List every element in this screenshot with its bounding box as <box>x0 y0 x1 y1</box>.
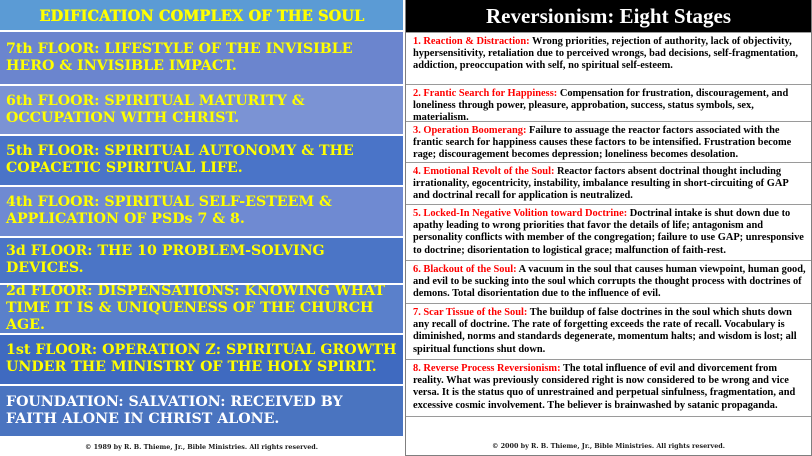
stage-title: 6. Blackout of the Soul: <box>413 264 517 275</box>
floor-row: 1st FLOOR: OPERATION Z: SPIRITUAL GROWTH… <box>0 333 403 384</box>
floor-row: 5th FLOOR: SPIRITUAL AUTONOMY & THE COPA… <box>0 134 403 185</box>
left-copyright-text: © 1989 by R. B. Thieme, Jr., Bible Minis… <box>85 443 318 451</box>
floor-label: 5th FLOOR: SPIRITUAL AUTONOMY & THE COPA… <box>6 143 397 177</box>
edification-complex-panel: EDIFICATION COMPLEX OF THE SOUL 7th FLOO… <box>0 0 403 456</box>
stages-list: 1. Reaction & Distraction: Wrong priorit… <box>406 32 811 436</box>
floor-label: 1st FLOOR: OPERATION Z: SPIRITUAL GROWTH… <box>6 342 397 376</box>
stage-row: 7. Scar Tissue of the Soul: The buildup … <box>406 304 811 360</box>
stage-row: 2. Frantic Search for Happiness: Compens… <box>406 85 811 122</box>
stage-title: 4. Emotional Revolt of the Soul: <box>413 166 554 177</box>
floor-label: 6th FLOOR: SPIRITUAL MATURITY & OCCUPATI… <box>6 93 397 127</box>
right-copyright-text: © 2000 by R. B. Thieme, Jr., Bible Minis… <box>492 442 725 450</box>
floor-row: 3d FLOOR: THE 10 PROBLEM-SOLVING DEVICES… <box>0 236 403 283</box>
stage-row: 6. Blackout of the Soul: A vacuum in the… <box>406 261 811 304</box>
stage-row: 3. Operation Boomerang: Failure to assua… <box>406 122 811 163</box>
floor-row: 4th FLOOR: SPIRITUAL SELF-ESTEEM & APPLI… <box>0 185 403 236</box>
stage-row: 8. Reverse Process Reversionism: The tot… <box>406 360 811 417</box>
stage-title: 2. Frantic Search for Happiness: <box>413 88 557 99</box>
floors-list: 7th FLOOR: LIFESTYLE OF THE INVISIBLE HE… <box>0 30 403 436</box>
stage-title: 7. Scar Tissue of the Soul: <box>413 307 527 318</box>
floor-label: 2d FLOOR: DISPENSATIONS: KNOWING WHAT TI… <box>6 283 397 333</box>
left-copyright-bar: © 1989 by R. B. Thieme, Jr., Bible Minis… <box>0 436 403 456</box>
floor-row: 2d FLOOR: DISPENSATIONS: KNOWING WHAT TI… <box>0 283 403 333</box>
stage-title: 5. Locked-In Negative Volition toward Do… <box>413 208 627 219</box>
reversionism-title-band: Reversionism: Eight Stages <box>406 0 811 32</box>
floor-row: 7th FLOOR: LIFESTYLE OF THE INVISIBLE HE… <box>0 30 403 84</box>
stage-title: 3. Operation Boomerang: <box>413 125 526 136</box>
floor-label: 4th FLOOR: SPIRITUAL SELF-ESTEEM & APPLI… <box>6 194 397 228</box>
edification-complex-title: EDIFICATION COMPLEX OF THE SOUL <box>39 6 364 25</box>
floor-row: 6th FLOOR: SPIRITUAL MATURITY & OCCUPATI… <box>0 84 403 134</box>
slide-root: EDIFICATION COMPLEX OF THE SOUL 7th FLOO… <box>0 0 812 456</box>
stage-row: 4. Emotional Revolt of the Soul: Reactor… <box>406 163 811 205</box>
right-copyright-bar: © 2000 by R. B. Thieme, Jr., Bible Minis… <box>406 436 811 455</box>
floor-label: 3d FLOOR: THE 10 PROBLEM-SOLVING DEVICES… <box>6 243 397 277</box>
floor-row: FOUNDATION: SALVATION: RECEIVED BY FAITH… <box>0 384 403 436</box>
reversionism-panel: Reversionism: Eight Stages 1. Reaction &… <box>405 0 812 456</box>
stage-title: 8. Reverse Process Reversionism: <box>413 363 561 374</box>
edification-complex-title-band: EDIFICATION COMPLEX OF THE SOUL <box>0 0 403 30</box>
stage-row: 1. Reaction & Distraction: Wrong priorit… <box>406 32 811 85</box>
reversionism-title: Reversionism: Eight Stages <box>486 4 731 29</box>
floor-label: 7th FLOOR: LIFESTYLE OF THE INVISIBLE HE… <box>6 41 397 75</box>
floor-label: FOUNDATION: SALVATION: RECEIVED BY FAITH… <box>6 394 397 428</box>
stage-title: 1. Reaction & Distraction: <box>413 36 530 47</box>
stage-row: 5. Locked-In Negative Volition toward Do… <box>406 205 811 261</box>
